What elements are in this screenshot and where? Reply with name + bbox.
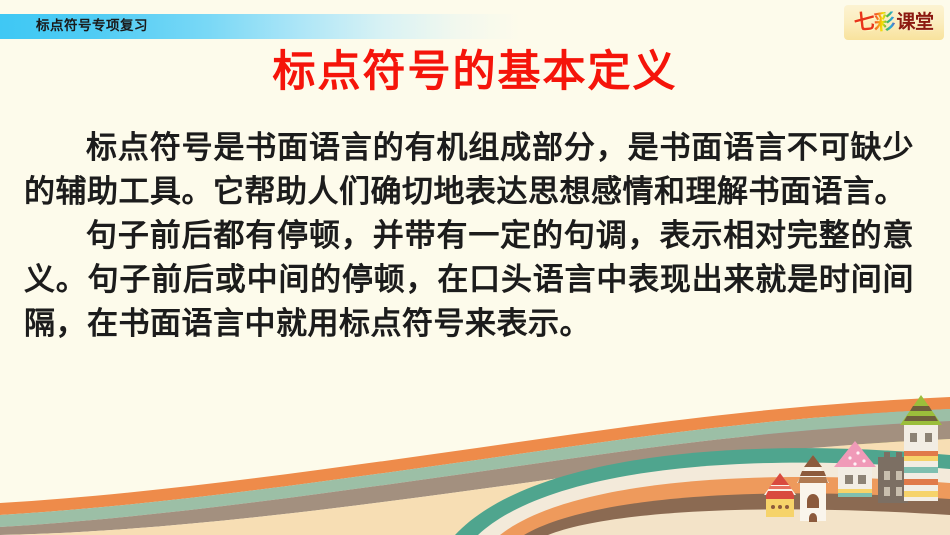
slide-body: 标点符号是书面语言的有机组成部分，是书面语言不可缺少的辅助工具。它帮助人们确切地…: [24, 126, 914, 346]
band-sand: [0, 439, 950, 535]
slide-canvas: 标点符号专项复习 七 彩 课堂 标点符号的基本定义 标点符号是书面语言的有机组成…: [0, 0, 950, 535]
arc-orange: [500, 477, 950, 535]
breadcrumb: 标点符号专项复习: [36, 14, 148, 39]
wave-bands: [0, 397, 950, 535]
body-paragraph-1: 标点符号是书面语言的有机组成部分，是书面语言不可缺少的辅助工具。它帮助人们确切地…: [24, 126, 914, 214]
arc-lightsand: [548, 509, 950, 535]
pink-roof-house: [834, 441, 876, 497]
band-sage: [0, 409, 950, 527]
right-hill-bands: [560, 401, 950, 535]
logo-char-ketang: 课堂: [896, 13, 933, 32]
grey-castle: [878, 452, 908, 503]
brown-tower-house: [797, 455, 829, 522]
band-taupe: [0, 421, 950, 535]
arc-teal: [455, 448, 950, 535]
page-title: 标点符号的基本定义: [0, 50, 950, 95]
arc-cream: [478, 463, 950, 535]
small-red-house: [764, 473, 796, 517]
logo-char-cai: 彩: [874, 11, 896, 33]
band-orange: [0, 397, 950, 515]
bottom-decoration: [0, 395, 950, 535]
foreground-arc: [455, 448, 950, 535]
body-paragraph-2: 句子前后都有停顿，并带有一定的句调，表示相对完整的意义。句子前后或中间的停顿，在…: [24, 214, 914, 346]
arc-brown: [524, 493, 950, 535]
publisher-logo: 七 彩 课堂: [844, 5, 944, 40]
tall-green-tower: [900, 395, 942, 501]
